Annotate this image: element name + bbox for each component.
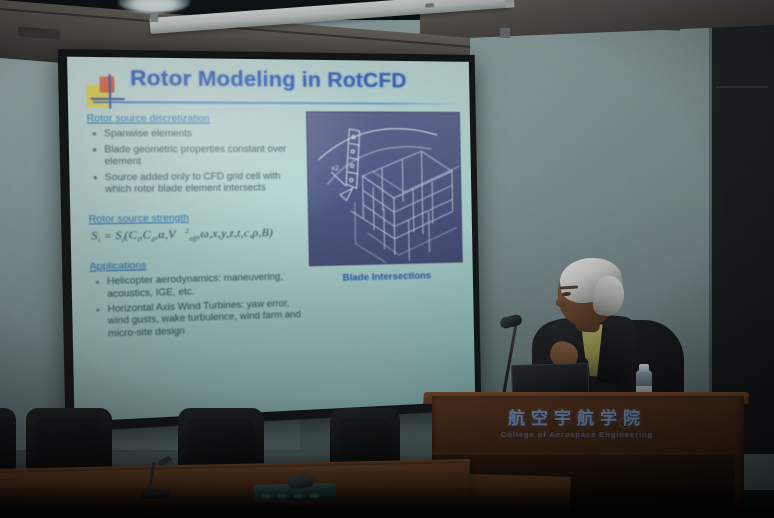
equation-lhs: Si: [91, 230, 100, 243]
section-heading-discretization: Rotor source discretization: [87, 113, 307, 124]
podium-english-label: College of Aerospace Engineering: [452, 430, 702, 439]
logo-horizontal-line: [91, 98, 125, 100]
right-dark-panel: [712, 24, 774, 454]
blade-intersection-figure: x2: [306, 111, 463, 266]
section-heading-source-strength: Rotor source strength: [89, 210, 309, 224]
chair: [0, 408, 16, 470]
list-item: Blade geometric properties constant over…: [89, 143, 307, 168]
rotcfd-logo-icon: [86, 74, 125, 109]
roller-bracket-left: [150, 14, 159, 23]
bullet-list-discretization: Spanwise elements Blade geometric proper…: [89, 128, 308, 196]
podium-emblem: [619, 417, 631, 429]
figure-caption: Blade Intersections: [309, 268, 463, 283]
roller-label: [425, 3, 434, 8]
cfd-grid-wireframe-icon: x2: [307, 112, 463, 266]
equation-rhs: Si(Cl,Cd,α,V⃗2eff,ω,x,y,z,t,c,ρ,B): [115, 227, 273, 243]
equation-equals: =: [103, 230, 112, 243]
podium-chinese-label: 航空宇航学院: [452, 404, 702, 429]
screen-surface: Rotor Modeling in RotCFD Rotor source di…: [67, 57, 475, 422]
list-item: Source added only to CFD grid cell with …: [90, 170, 308, 196]
lecture-hall-scene: Rotor Modeling in RotCFD Rotor source di…: [0, 0, 774, 518]
figure-axis-label: x2: [331, 165, 339, 172]
slide-title: Rotor Modeling in RotCFD: [130, 66, 407, 93]
bullet-list-applications: Helicopter aerodynamics: maneuvering, ac…: [92, 271, 310, 340]
presentation-slide: Rotor Modeling in RotCFD Rotor source di…: [67, 57, 475, 422]
chair: [26, 408, 112, 470]
list-item: Horizontal Axis Wind Turbines: yaw error…: [93, 297, 311, 340]
foreground-shadow: [0, 484, 774, 518]
roller-bracket-right: [500, 28, 510, 38]
projection-screen: Rotor Modeling in RotCFD Rotor source di…: [58, 49, 482, 432]
slide-left-column: Rotor source discretization Spanwise ele…: [87, 113, 311, 344]
list-item: Helicopter aerodynamics: maneuvering, ac…: [92, 271, 309, 301]
roller-end-cap: [505, 0, 515, 8]
title-underline-rule: [93, 101, 461, 104]
water-bottle-cap: [639, 364, 649, 372]
logo-red-square: [99, 76, 114, 92]
chair: [178, 408, 264, 470]
list-item: Spanwise elements: [89, 128, 306, 140]
